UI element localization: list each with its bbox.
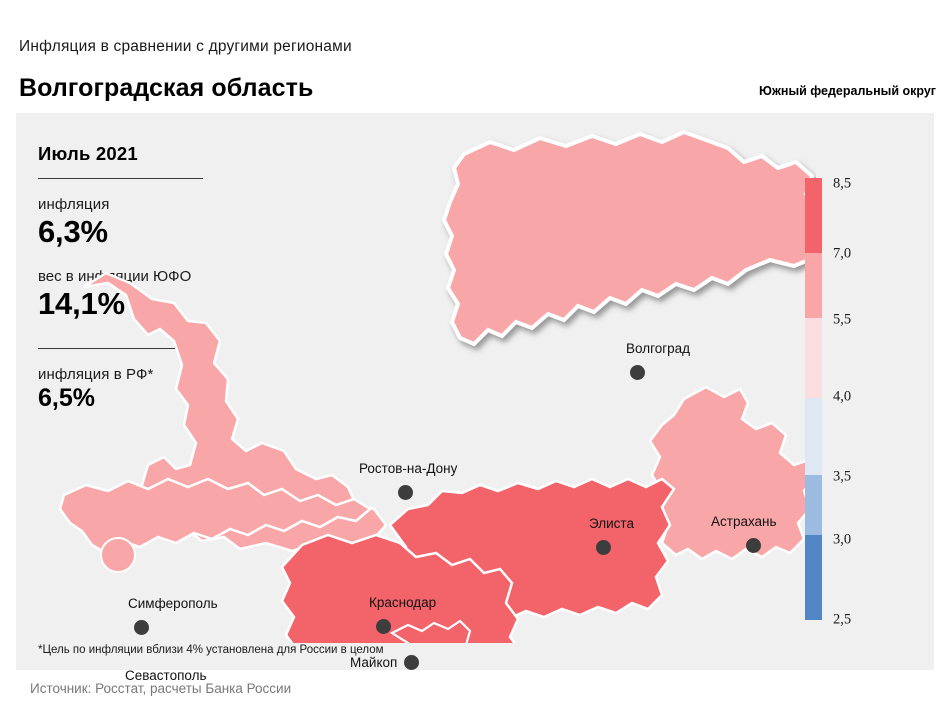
city-label-rostov: Ростов-на-Дону bbox=[359, 461, 457, 476]
legend-band-3.5-3.0[interactable] bbox=[805, 475, 822, 535]
city-label-elista: Элиста bbox=[589, 516, 634, 531]
city-dot-astrakhan[interactable] bbox=[746, 538, 761, 553]
infographic-root: Инфляция в сравнении с другими регионами… bbox=[0, 0, 950, 713]
city-dot-rostov[interactable] bbox=[398, 485, 413, 500]
city-label-simferopol: Симферополь bbox=[128, 596, 218, 611]
legend-band-3.0-2.5[interactable] bbox=[805, 535, 822, 620]
map-svg bbox=[56, 113, 816, 643]
region-sevastopol[interactable] bbox=[101, 538, 135, 572]
federal-district-label: Южный федеральный округ bbox=[759, 84, 936, 98]
city-label-astrakhan: Астрахань bbox=[711, 514, 777, 529]
legend-band-4.0-3.5[interactable] bbox=[805, 398, 822, 475]
region-volgograd-highlighted[interactable] bbox=[444, 132, 816, 344]
legend-tick-3.0: 3,0 bbox=[833, 532, 851, 549]
city-dot-elista[interactable] bbox=[596, 540, 611, 555]
legend-band-8.5-7.0[interactable] bbox=[805, 178, 822, 253]
city-dot-volgograd[interactable] bbox=[630, 365, 645, 380]
main-panel: Июль 2021 инфляция 6,3% вес в инфляции Ю… bbox=[16, 113, 934, 670]
legend-tick-8.5: 8,5 bbox=[833, 176, 851, 193]
source-line: Источник: Росстат, расчеты Банка России bbox=[30, 681, 291, 696]
city-label-volgograd: Волгоград bbox=[626, 341, 690, 356]
legend-tick-7.0: 7,0 bbox=[833, 246, 851, 263]
city-label-krasnodar: Краснодар bbox=[369, 595, 436, 610]
choropleth-map: Волгоград Ростов-на-Дону Элиста Астрахан… bbox=[56, 113, 816, 643]
region-astrakhan[interactable] bbox=[650, 387, 816, 559]
legend-tick-4.0: 4,0 bbox=[833, 389, 851, 406]
legend-colorbar bbox=[805, 178, 822, 620]
legend-band-7.0-5.5[interactable] bbox=[805, 253, 822, 318]
legend-tick-5.5: 5,5 bbox=[833, 312, 851, 329]
header-subtitle: Инфляция в сравнении с другими регионами bbox=[19, 38, 352, 56]
legend-tick-2.5: 2,5 bbox=[833, 612, 851, 629]
legend-tick-3.5: 3,5 bbox=[833, 469, 851, 486]
city-dot-maykop[interactable] bbox=[404, 655, 419, 670]
footnote: *Цель по инфляции вблизи 4% установлена … bbox=[38, 644, 384, 656]
page-title: Волгоградская область bbox=[19, 74, 313, 103]
city-dot-krasnodar[interactable] bbox=[376, 619, 391, 634]
city-dot-simferopol[interactable] bbox=[134, 620, 149, 635]
city-label-maykop: Майкоп bbox=[350, 655, 397, 670]
legend-band-5.5-4.0[interactable] bbox=[805, 318, 822, 398]
